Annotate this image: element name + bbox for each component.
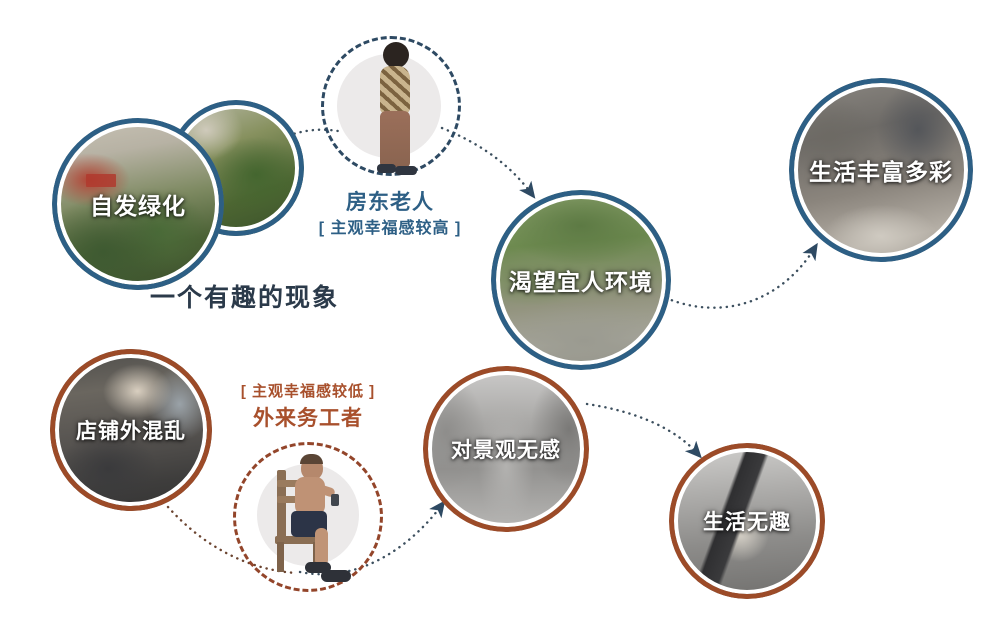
persona-name: 外来务工者 — [213, 402, 403, 432]
persona-figure — [271, 456, 357, 586]
persona-subtitle: [ 主观幸福感较低 ] — [213, 380, 403, 401]
page-headline: 一个有趣的现象 — [150, 278, 339, 314]
node-label: 自发绿化 — [90, 187, 186, 221]
diagram-canvas: 自发绿化 一个有趣的现象 房东老人 [ 主观幸福感较高 ] 渴望宜人环境 生活丰… — [0, 0, 1000, 635]
node-greening[interactable]: 自发绿化 — [52, 118, 224, 290]
node-label: 生活无趣 — [703, 506, 791, 536]
persona-migrant[interactable]: [ 主观幸福感较低 ] 外来务工者 — [213, 380, 403, 605]
flow-park-to-chess — [666, 249, 814, 308]
node-city[interactable]: 生活无趣 — [669, 443, 825, 599]
node-label: 生活丰富多彩 — [809, 153, 953, 187]
node-label: 对景观无感 — [451, 434, 561, 464]
node-label: 店铺外混乱 — [76, 415, 186, 445]
node-alley[interactable]: 对景观无感 — [423, 366, 589, 532]
persona-figure — [367, 42, 421, 192]
node-clutter[interactable]: 店铺外混乱 — [50, 349, 212, 511]
persona-subtitle: [ 主观幸福感较高 ] — [309, 214, 471, 238]
node-park[interactable]: 渴望宜人环境 — [491, 190, 671, 370]
flow-alley-to-city — [587, 404, 697, 453]
node-chess[interactable]: 生活丰富多彩 — [789, 78, 973, 262]
persona-name: 房东老人 — [315, 186, 465, 216]
node-label: 渴望宜人环境 — [509, 263, 653, 297]
persona-landlord[interactable]: 房东老人 [ 主观幸福感较高 ] — [315, 18, 465, 248]
